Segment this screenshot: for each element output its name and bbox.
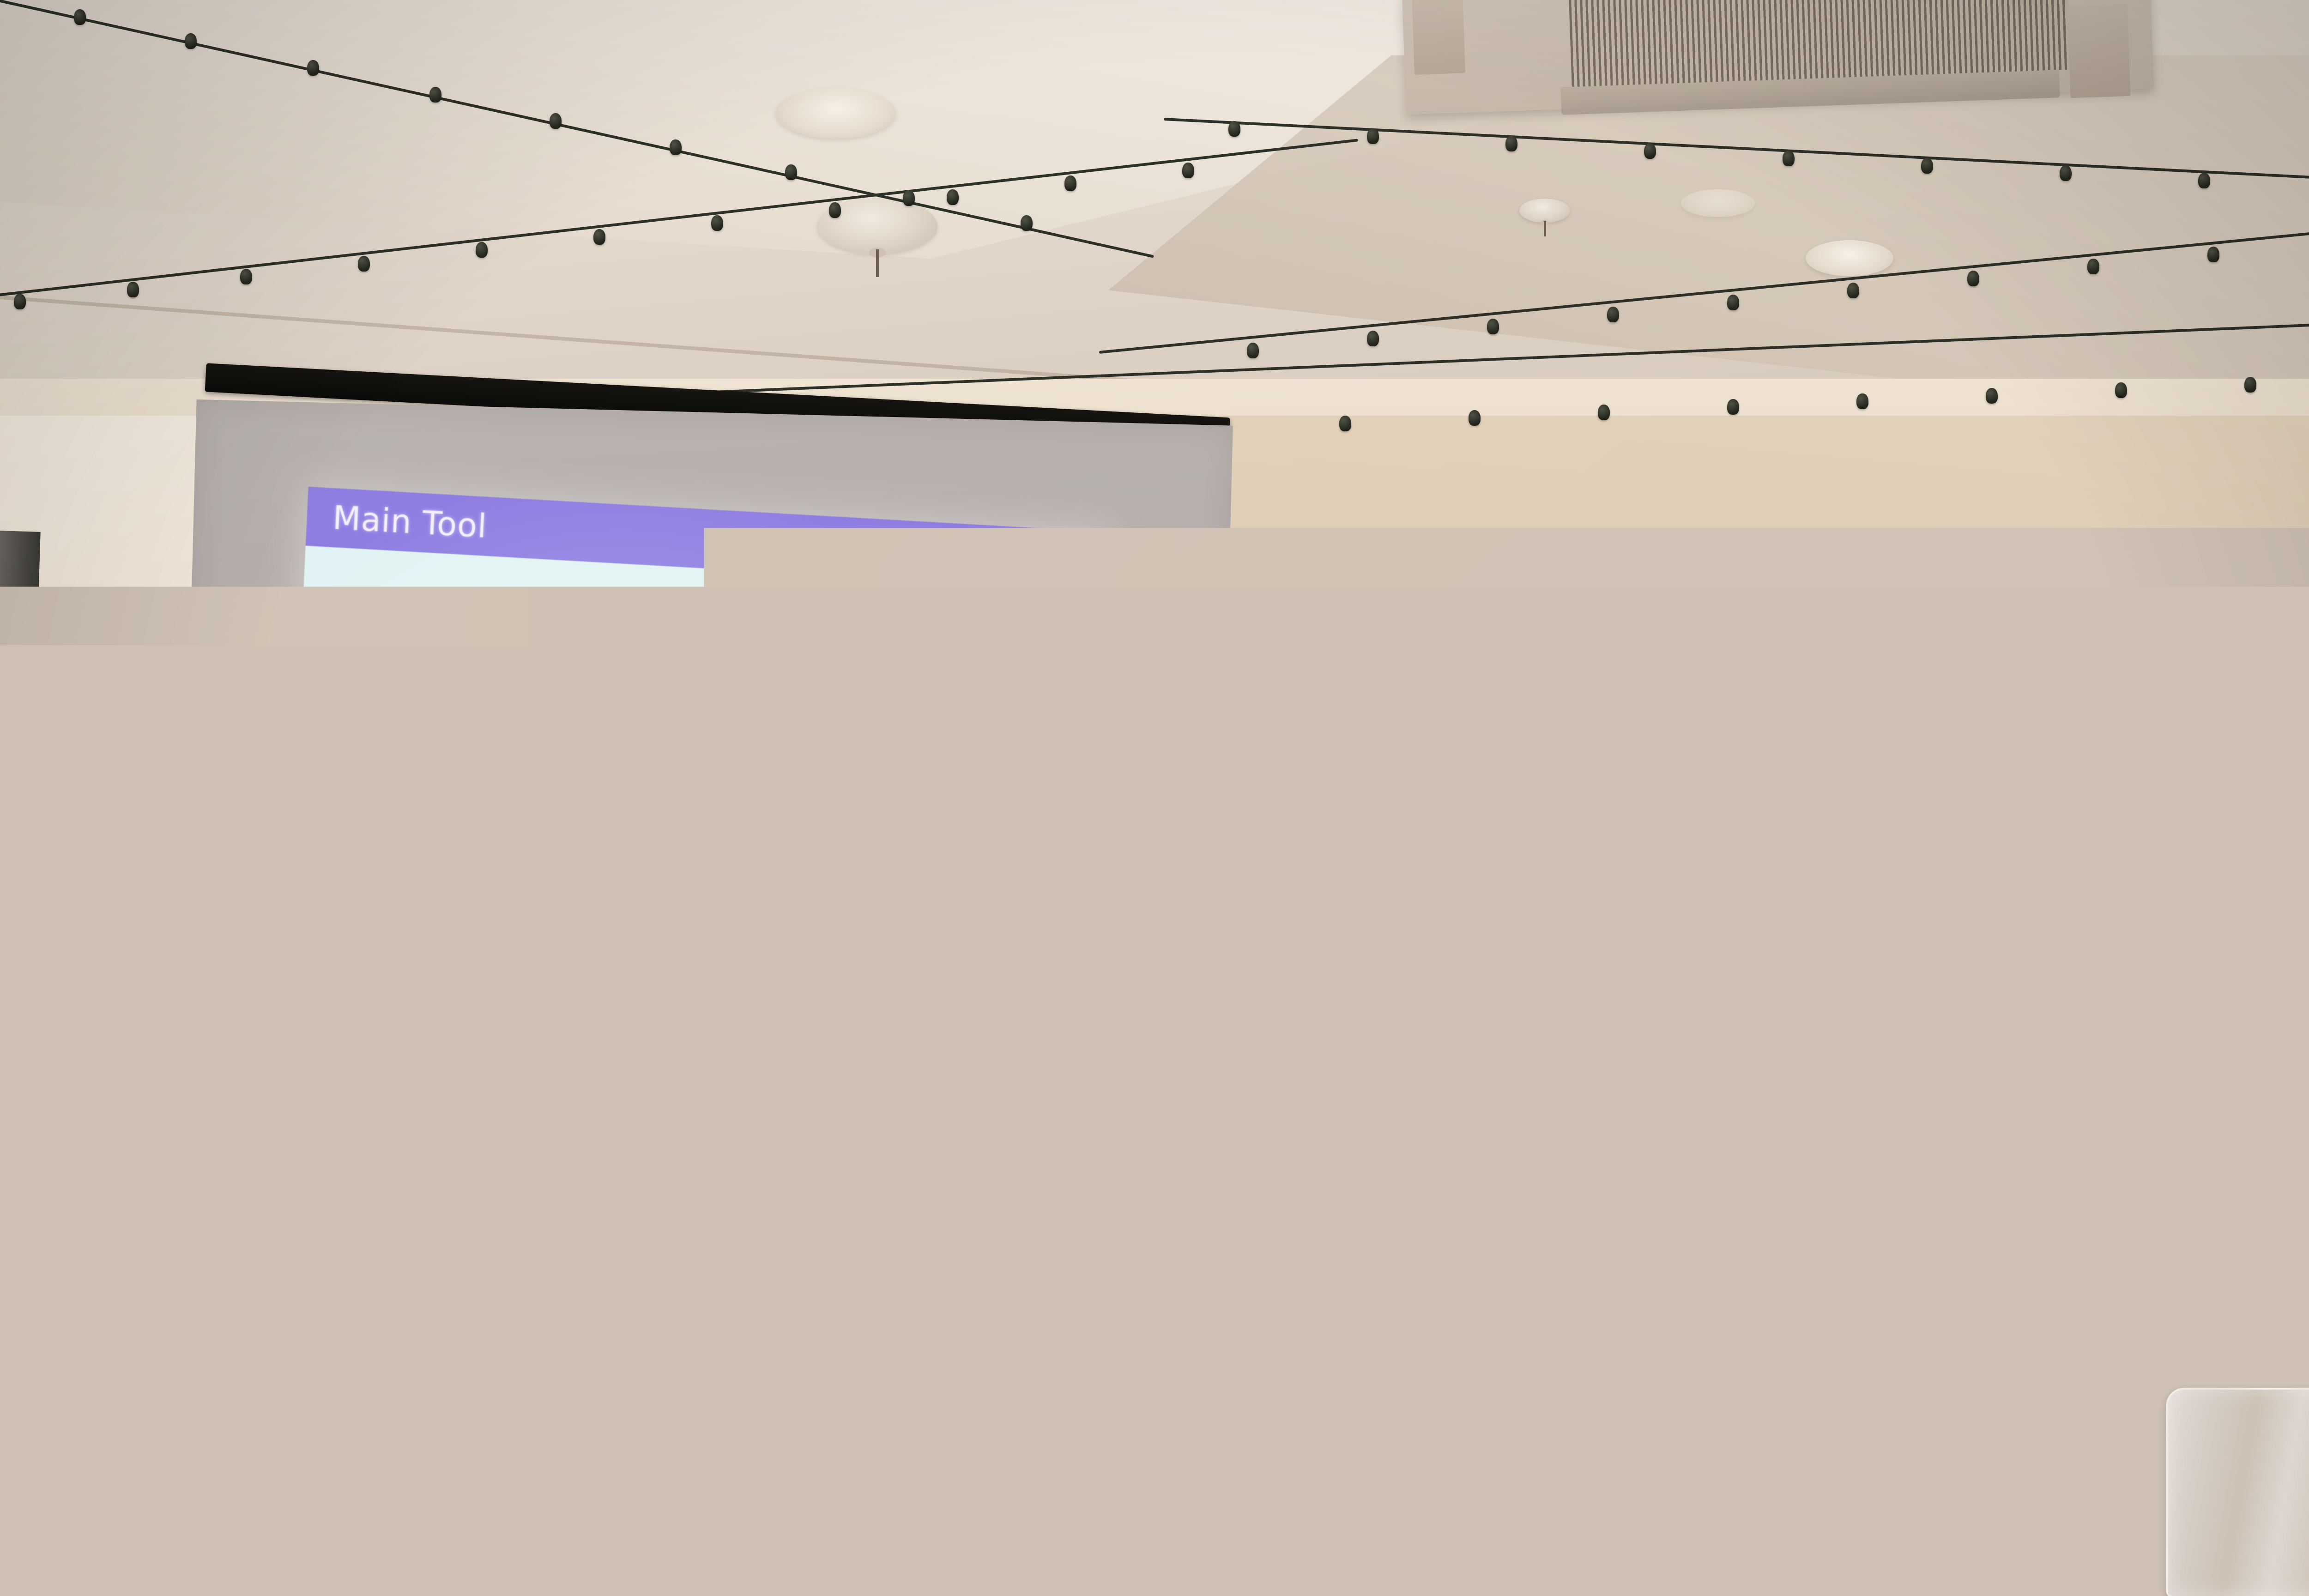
presenter-shirt-button xyxy=(1961,1247,1970,1256)
string-light-bulb xyxy=(1967,271,1979,286)
string-light-bulb xyxy=(1469,410,1481,426)
formula-where: where xyxy=(749,695,828,728)
projection-screen-brand-label xyxy=(1101,1296,1171,1317)
summation-operator: ∑ (x,y)∈Hm 1≤x,y≤m xyxy=(505,667,569,737)
string-light-bulb xyxy=(127,282,139,297)
string-light-bulb xyxy=(1367,128,1379,144)
carafe-rim-left xyxy=(2185,1386,2259,1421)
brand-text-bars xyxy=(1112,1304,1170,1311)
seated-attendee xyxy=(0,776,951,1596)
presenter-beard-stubble xyxy=(1919,739,2049,799)
formula-lhs-sub: m xyxy=(386,683,407,708)
flipchart-smudge xyxy=(0,623,14,656)
presenter-right-sleeve xyxy=(2221,952,2309,1144)
string-light-bulb xyxy=(785,164,797,180)
recessed-downlight xyxy=(1681,189,1755,217)
string-light-bulb xyxy=(1182,163,1194,178)
string-light-bulb xyxy=(903,190,915,206)
string-light-bulb xyxy=(2060,165,2072,181)
string-light-bulb xyxy=(429,87,441,103)
string-light-bulb xyxy=(240,269,252,284)
carafe-refraction-dark xyxy=(2194,1439,2224,1577)
water-carafe[interactable] xyxy=(2166,1369,2309,1596)
formula-def-rhs: (z) = exp(2πiz/m) xyxy=(885,702,1105,744)
string-light-bulb xyxy=(1247,343,1259,358)
string-light-bulb xyxy=(2115,382,2127,398)
slide-footer-page-number: 8 / 40 xyxy=(1033,1122,1069,1138)
string-light-bulb xyxy=(2207,247,2219,262)
string-light-bulb xyxy=(1367,331,1379,346)
recessed-downlight xyxy=(776,88,896,139)
string-light-bulb xyxy=(593,229,605,245)
lecture-room-photo: Main Tool Kloosterman Sums Km(r, s) = ∑ … xyxy=(0,0,2309,1596)
string-light-bulb xyxy=(2244,377,2256,393)
presenter-shirt-button xyxy=(1959,1118,1968,1127)
formula-lhs-args: (r, s) = xyxy=(406,675,493,709)
string-light-bulb xyxy=(1921,158,1933,174)
string-light-bulb xyxy=(358,256,370,272)
sprinkler-head-icon xyxy=(1519,199,1570,223)
string-light-bulb xyxy=(2198,173,2210,188)
formula-def-sub: m xyxy=(865,710,886,736)
string-light-bulb xyxy=(307,60,319,76)
recessed-downlight xyxy=(1806,240,1893,276)
attendee-sweater-fold xyxy=(74,1376,268,1515)
string-light-bulb xyxy=(1847,283,1859,298)
string-light-bulb xyxy=(14,294,26,309)
string-light-bulb xyxy=(829,202,841,218)
whiteboard-smudge xyxy=(1549,709,1744,827)
formula-summand-args: (rx + sy) xyxy=(616,687,726,722)
string-light-bulb xyxy=(1064,175,1076,191)
string-light-bulb xyxy=(74,9,86,25)
presenter-mouth xyxy=(1957,749,1991,761)
string-light-bulb xyxy=(1487,319,1499,334)
slide-formula-kloosterman: Km(r, s) = ∑ (x,y)∈Hm 1≤x,y≤m em(rx + sy… xyxy=(367,657,1089,763)
string-light-bulb xyxy=(1339,416,1351,431)
air-conditioner-vane xyxy=(2067,4,2131,98)
foreground-cup[interactable] xyxy=(1644,1570,1778,1596)
string-light-bulb xyxy=(1856,393,1868,409)
presenter-shirt-button xyxy=(1957,984,1966,993)
attendee-sweater-fold xyxy=(526,1353,767,1529)
string-light-bulb xyxy=(1505,136,1517,151)
slide-subheading: Kloosterman Sums xyxy=(329,588,588,634)
whiteboard-marker-clip[interactable] xyxy=(1389,833,1420,886)
string-light-bulb xyxy=(1607,307,1619,322)
attendee-sweater-seam xyxy=(356,1298,360,1596)
slide-title: Main Tool xyxy=(332,499,488,545)
string-light-bulb xyxy=(1644,143,1656,159)
string-light-bulb xyxy=(1727,295,1739,310)
carafe-inner-tube xyxy=(2241,1466,2280,1596)
air-conditioner-vane xyxy=(1412,0,1465,75)
string-light-bulb xyxy=(185,33,197,49)
string-light-bulb xyxy=(1021,215,1033,231)
string-light-bulb xyxy=(550,113,562,129)
string-light-bulb xyxy=(1228,121,1240,137)
brand-mark-icon xyxy=(1105,1300,1111,1312)
string-light-bulb xyxy=(476,242,488,258)
sigma-icon: ∑ xyxy=(507,667,569,709)
string-light-bulb xyxy=(1598,405,1610,420)
formula-summand: e xyxy=(581,685,598,715)
formula-def: e xyxy=(851,701,867,731)
string-light-bulb xyxy=(1783,151,1795,166)
presenter-ear xyxy=(2031,683,2058,723)
sum-condition-2: 1≤x,y≤m xyxy=(505,719,567,737)
formula-summand-sub: m xyxy=(596,695,617,720)
carafe-refraction-dark xyxy=(2277,1545,2309,1596)
string-light-bulb xyxy=(947,189,959,205)
string-light-bulb xyxy=(1986,388,1998,404)
formula-lhs: K xyxy=(368,673,387,703)
string-light-bulb xyxy=(1727,399,1739,415)
string-light-bulb xyxy=(670,139,682,155)
presenter-nose xyxy=(1959,687,1982,730)
string-light-bulb xyxy=(711,215,723,231)
string-light-bulb xyxy=(2087,259,2099,274)
